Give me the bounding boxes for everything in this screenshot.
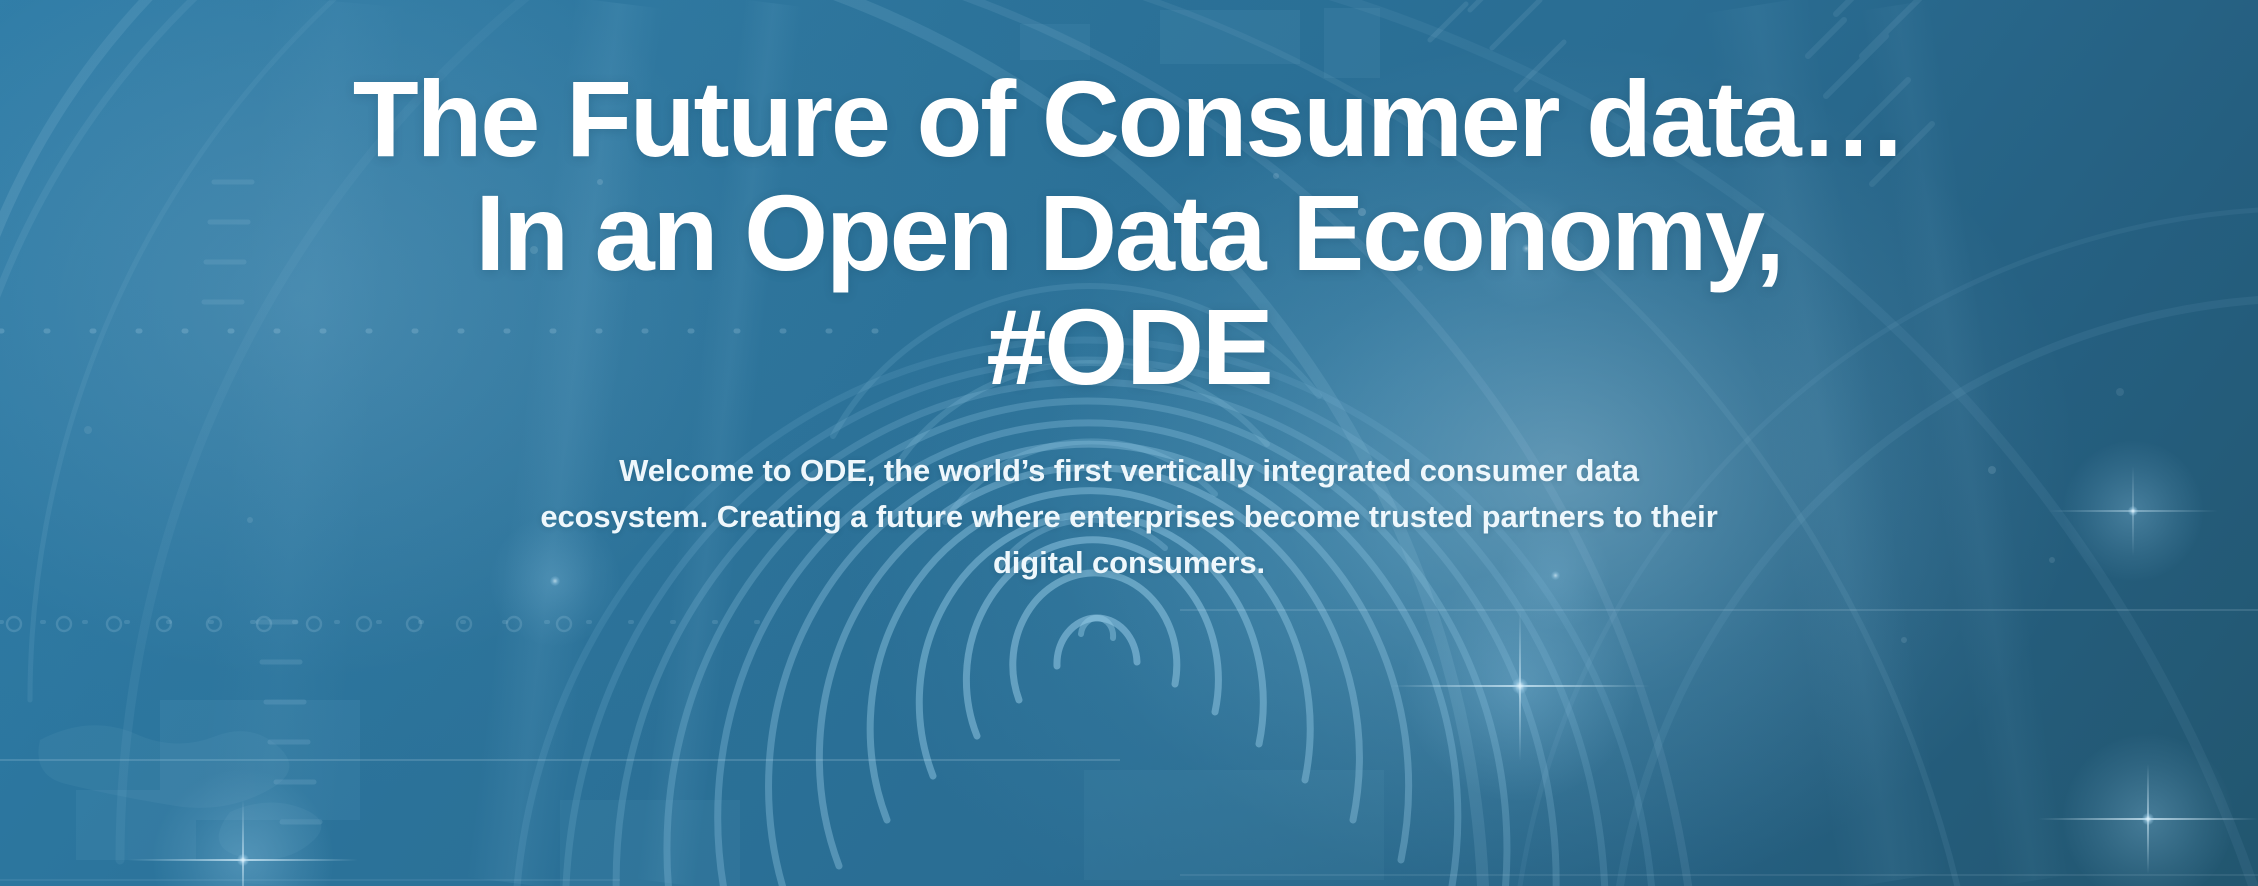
hero-content: The Future of Consumer data… In an Open …: [0, 0, 2258, 886]
headline-line-3: #ODE: [0, 290, 2258, 404]
headline-line-2: In an Open Data Economy,: [0, 176, 2258, 290]
hero-subcopy: Welcome to ODE, the world’s first vertic…: [534, 448, 1724, 586]
hero-banner: The Future of Consumer data… In an Open …: [0, 0, 2258, 886]
page-title: The Future of Consumer data… In an Open …: [0, 62, 2258, 404]
headline-line-1: The Future of Consumer data…: [0, 62, 2258, 176]
